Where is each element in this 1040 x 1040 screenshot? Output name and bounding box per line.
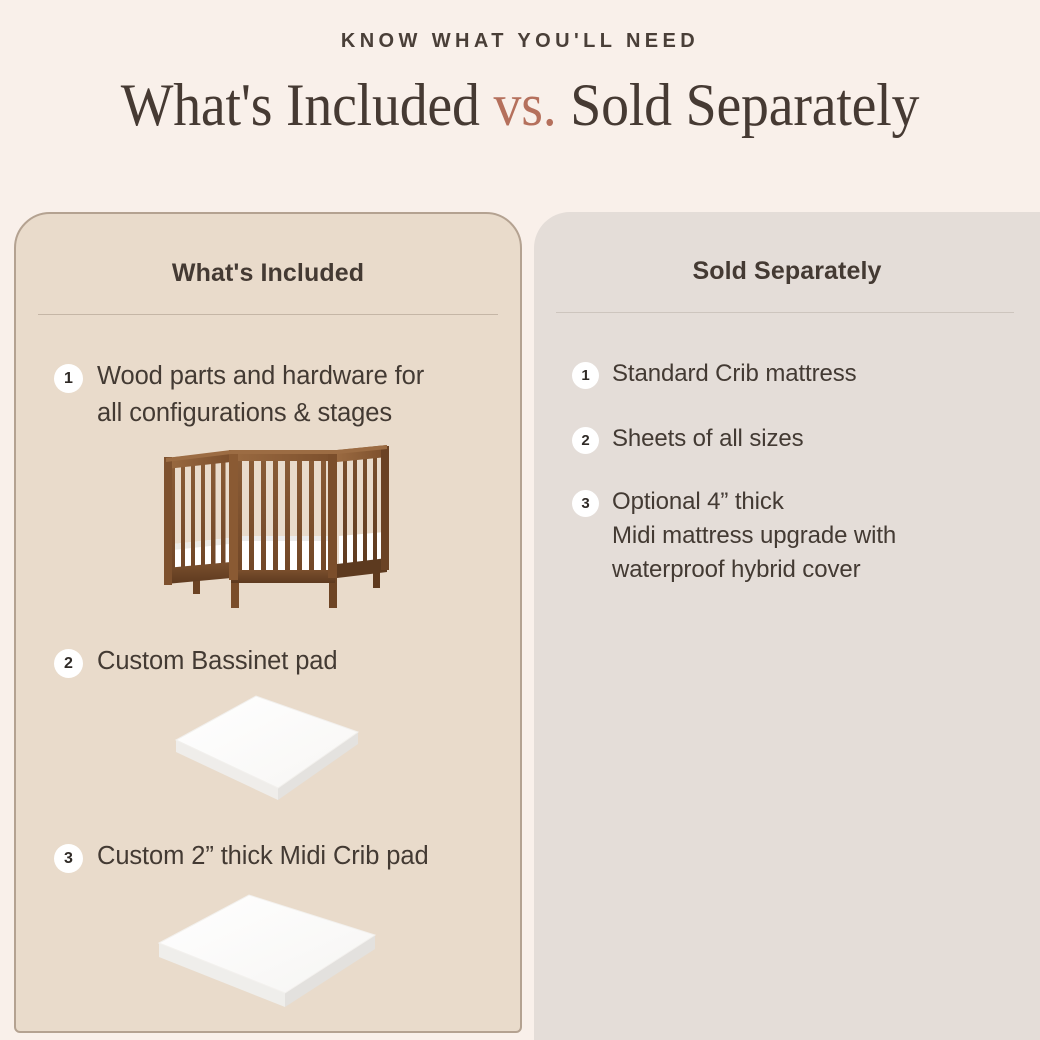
item-number-badge: 1 [572, 362, 599, 389]
list-item-label: Wood parts and hardware for all configur… [97, 358, 424, 431]
list-item: 2 Sheets of all sizes [534, 422, 1040, 456]
page-header: KNOW WHAT YOU'LL NEED What's Included vs… [0, 0, 1040, 212]
list-item-label: Sheets of all sizes [612, 422, 804, 456]
midi-crib-pad-illustration [143, 881, 393, 1017]
item-number-badge: 3 [54, 844, 83, 873]
item-number-badge: 1 [54, 364, 83, 393]
item-number-badge: 2 [572, 427, 599, 454]
list-item-label: Standard Crib mattress [612, 357, 857, 391]
comparison-panels: What's Included 1 Wood parts and hardwar… [0, 212, 1040, 1040]
crib-illustration [133, 438, 403, 618]
list-item: 3 Optional 4” thick Midi mattress upgrad… [534, 485, 1040, 587]
list-item: 1 Standard Crib mattress [534, 357, 1040, 391]
list-item: 3 Custom 2” thick Midi Crib pad [16, 838, 520, 875]
title-part-one: What's Included [121, 72, 494, 138]
panel-included-title: What's Included [16, 214, 520, 288]
eyebrow-text: KNOW WHAT YOU'LL NEED [0, 31, 1040, 51]
panel-whats-included: What's Included 1 Wood parts and hardwar… [14, 212, 522, 1033]
item-number-badge: 2 [54, 649, 83, 678]
crib-walnut-image [16, 437, 520, 619]
bassinet-pad-illustration [158, 684, 378, 808]
list-item-label: Optional 4” thick Midi mattress upgrade … [612, 485, 896, 587]
list-item-label: Custom Bassinet pad [97, 643, 337, 680]
item-number-badge: 3 [572, 490, 599, 517]
panel-included-divider [38, 314, 498, 315]
list-item-label: Custom 2” thick Midi Crib pad [97, 838, 429, 875]
panel-separate-title: Sold Separately [534, 212, 1040, 286]
title-vs-accent: vs. [493, 72, 556, 138]
bassinet-pad-image [16, 682, 520, 810]
midi-crib-pad-image [16, 879, 520, 1019]
included-list: 1 Wood parts and hardware for all config… [16, 358, 520, 1019]
separate-list: 1 Standard Crib mattress 2 Sheets of all… [534, 357, 1040, 587]
panel-sold-separately: Sold Separately 1 Standard Crib mattress… [534, 212, 1040, 1040]
page-title: What's Included vs. Sold Separately [36, 73, 1003, 138]
panel-separate-divider [556, 312, 1014, 313]
list-item: 1 Wood parts and hardware for all config… [16, 358, 520, 431]
list-item: 2 Custom Bassinet pad [16, 643, 520, 680]
title-part-two: Sold Separately [557, 72, 920, 138]
